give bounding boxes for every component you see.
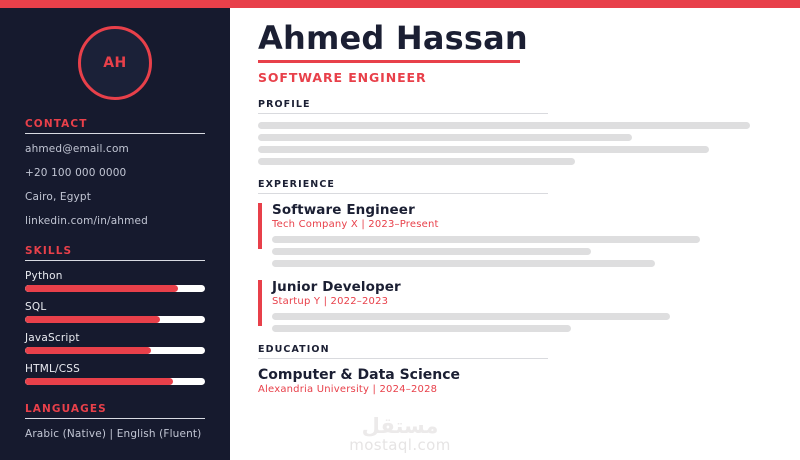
resume-document: AH CONTACT ahmed@email.com +20 100 000 0… [0, 0, 800, 460]
experience-heading: EXPERIENCE [258, 179, 770, 190]
contact-linkedin[interactable]: linkedin.com/in/ahmed [25, 215, 205, 227]
skill-item: SQL [25, 301, 205, 323]
avatar: AH [78, 26, 152, 100]
top-accent-bar [0, 0, 800, 8]
education-divider [258, 358, 548, 359]
contact-email[interactable]: ahmed@email.com [25, 143, 205, 155]
entry-text-line [272, 313, 670, 320]
contact-heading: CONTACT [25, 118, 205, 133]
skill-label: Python [25, 270, 205, 282]
main-content: Ahmed Hassan SOFTWARE ENGINEER PROFILE E… [230, 0, 800, 460]
profile-text-line [258, 122, 750, 129]
avatar-container: AH [25, 26, 205, 100]
contact-divider [25, 133, 205, 134]
entry-text-line [272, 236, 700, 243]
education-section: EDUCATION Computer & Data Science Alexan… [258, 344, 770, 395]
contact-phone[interactable]: +20 100 000 0000 [25, 167, 205, 179]
languages-section: LANGUAGES Arabic (Native) | English (Flu… [25, 403, 205, 440]
experience-entry: Junior Developer Startup Y | 2022–2023 [258, 279, 770, 332]
skills-section: SKILLS Python SQL JavaScript [25, 245, 205, 385]
skill-track [25, 378, 205, 385]
profile-text-line [258, 134, 632, 141]
contact-section: CONTACT ahmed@email.com +20 100 000 0000… [25, 118, 205, 227]
skill-fill [25, 316, 160, 323]
page-title: Ahmed Hassan [258, 22, 770, 56]
education-heading: EDUCATION [258, 344, 770, 355]
name-underline [258, 60, 520, 63]
entry-title: Junior Developer [272, 279, 770, 295]
skills-heading: SKILLS [25, 245, 205, 260]
entry-meta: Tech Company X | 2023–Present [272, 219, 770, 230]
experience-entry: Software Engineer Tech Company X | 2023–… [258, 202, 770, 267]
job-role: SOFTWARE ENGINEER [258, 70, 770, 85]
experience-divider [258, 193, 548, 194]
skill-track [25, 285, 205, 292]
profile-section: PROFILE [258, 99, 770, 165]
entry-text-line [272, 260, 655, 267]
experience-section: EXPERIENCE Software Engineer Tech Compan… [258, 179, 770, 332]
skill-item: HTML/CSS [25, 363, 205, 385]
profile-divider [258, 113, 548, 114]
avatar-initials: AH [103, 55, 127, 71]
profile-text-line [258, 146, 709, 153]
skill-track [25, 347, 205, 354]
education-meta: Alexandria University | 2024–2028 [258, 384, 770, 395]
skills-divider [25, 260, 205, 261]
profile-heading: PROFILE [258, 99, 770, 110]
contact-location: Cairo, Egypt [25, 191, 205, 203]
skill-item: JavaScript [25, 332, 205, 354]
skill-label: JavaScript [25, 332, 205, 344]
entry-accent-bar [258, 280, 262, 326]
entry-meta: Startup Y | 2022–2023 [272, 296, 770, 307]
entry-accent-bar [258, 203, 262, 249]
entry-text-line [272, 248, 591, 255]
profile-text-line [258, 158, 575, 165]
skill-fill [25, 347, 151, 354]
entry-title: Software Engineer [272, 202, 770, 218]
languages-divider [25, 418, 205, 419]
languages-value: Arabic (Native) | English (Fluent) [25, 428, 205, 440]
skill-label: HTML/CSS [25, 363, 205, 375]
skill-fill [25, 285, 178, 292]
education-degree: Computer & Data Science [258, 367, 770, 383]
languages-heading: LANGUAGES [25, 403, 205, 418]
skill-item: Python [25, 270, 205, 292]
skill-track [25, 316, 205, 323]
entry-text-line [272, 325, 571, 332]
skill-fill [25, 378, 173, 385]
skill-label: SQL [25, 301, 205, 313]
sidebar: AH CONTACT ahmed@email.com +20 100 000 0… [0, 0, 230, 460]
